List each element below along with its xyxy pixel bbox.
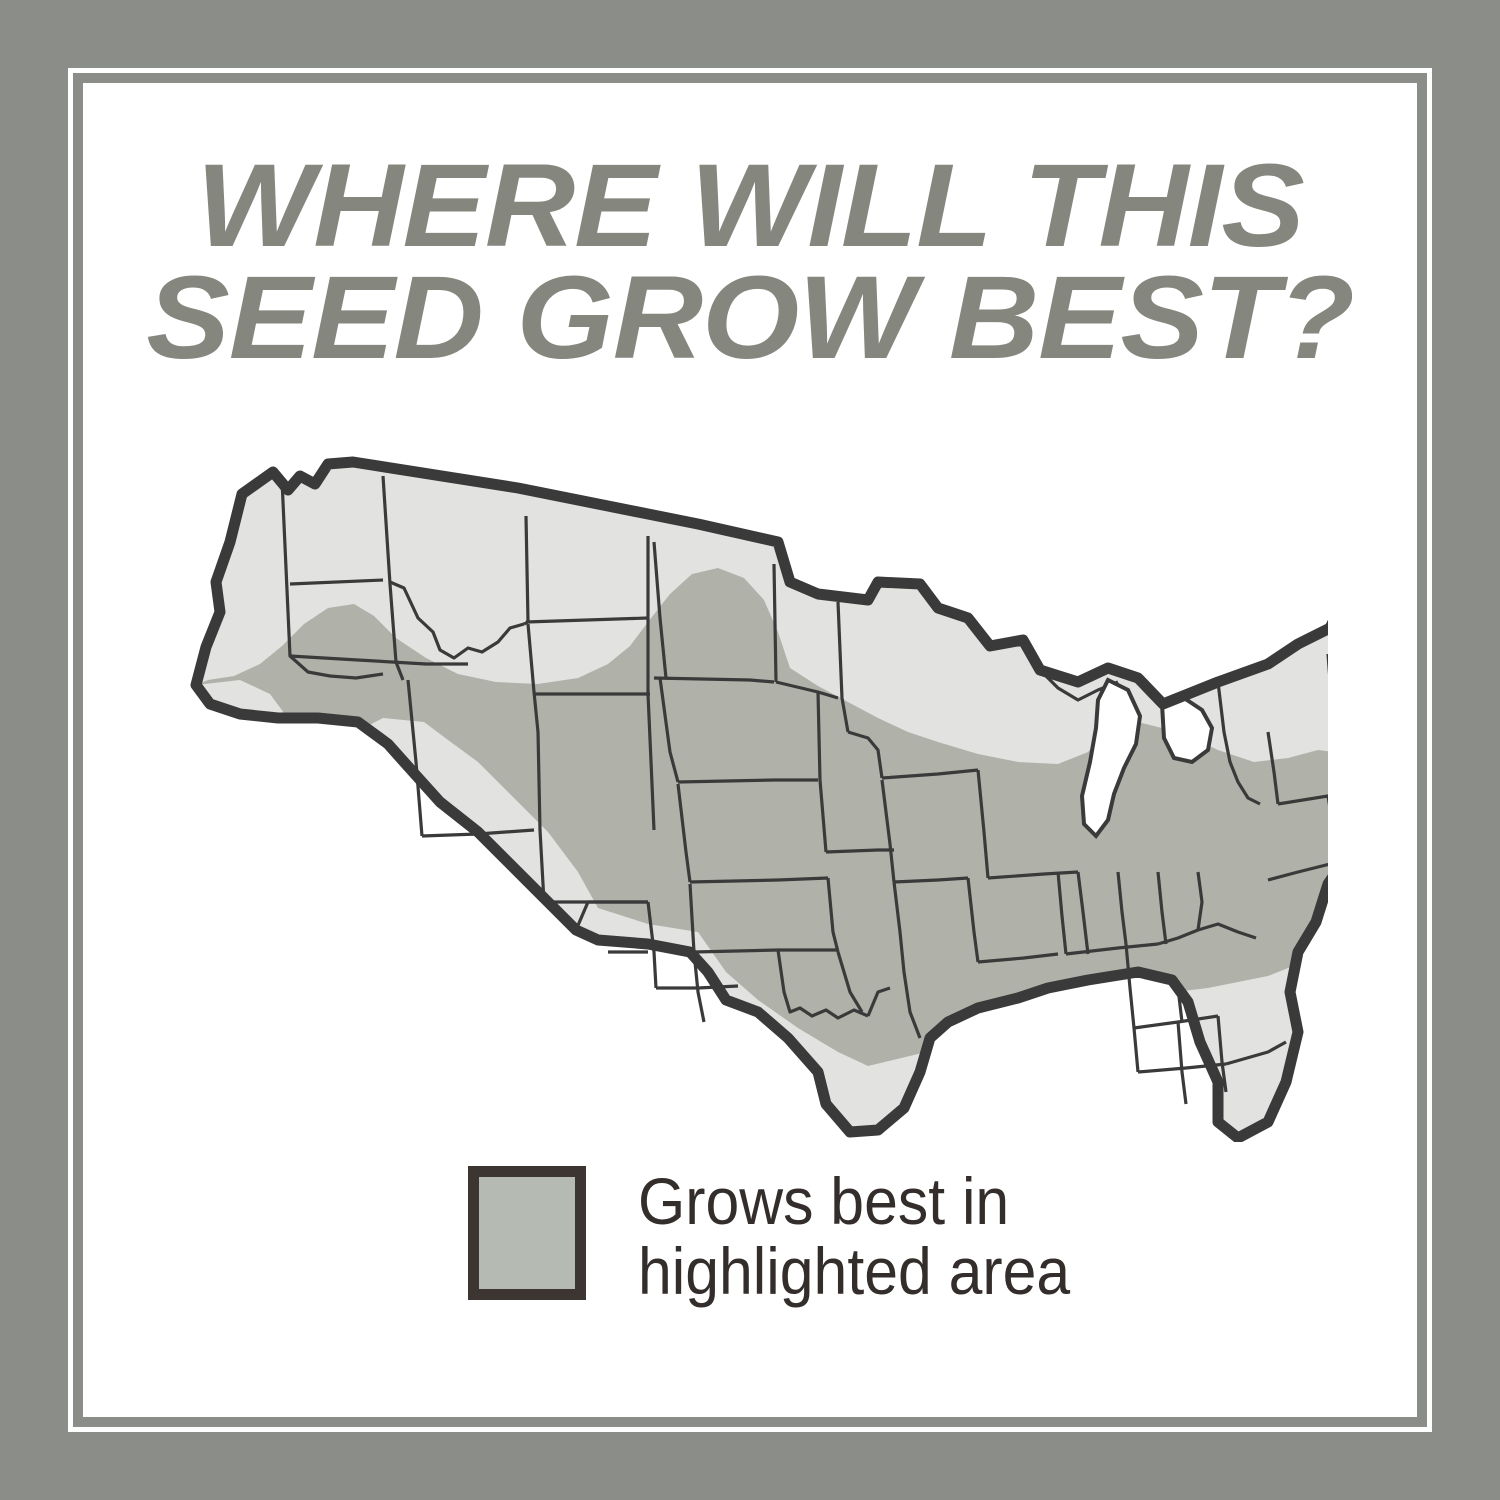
united-states-map [178,432,1328,1142]
legend-line-2: highlighted area [638,1236,1070,1306]
legend-line-1: Grows best in [638,1166,1070,1236]
title-line-1: WHERE WILL THIS [61,150,1439,262]
page-title: WHERE WILL THIS SEED GROW BEST? [100,150,1400,374]
poster-canvas: WHERE WILL THIS SEED GROW BEST? [0,0,1500,1500]
map-legend: Grows best in highlighted area [468,1166,1108,1306]
highlight-region-overlay [196,568,1328,1066]
highlight-color-swatch [468,1166,586,1300]
title-line-2: SEED GROW BEST? [61,262,1439,374]
legend-label: Grows best in highlighted area [638,1166,1070,1306]
